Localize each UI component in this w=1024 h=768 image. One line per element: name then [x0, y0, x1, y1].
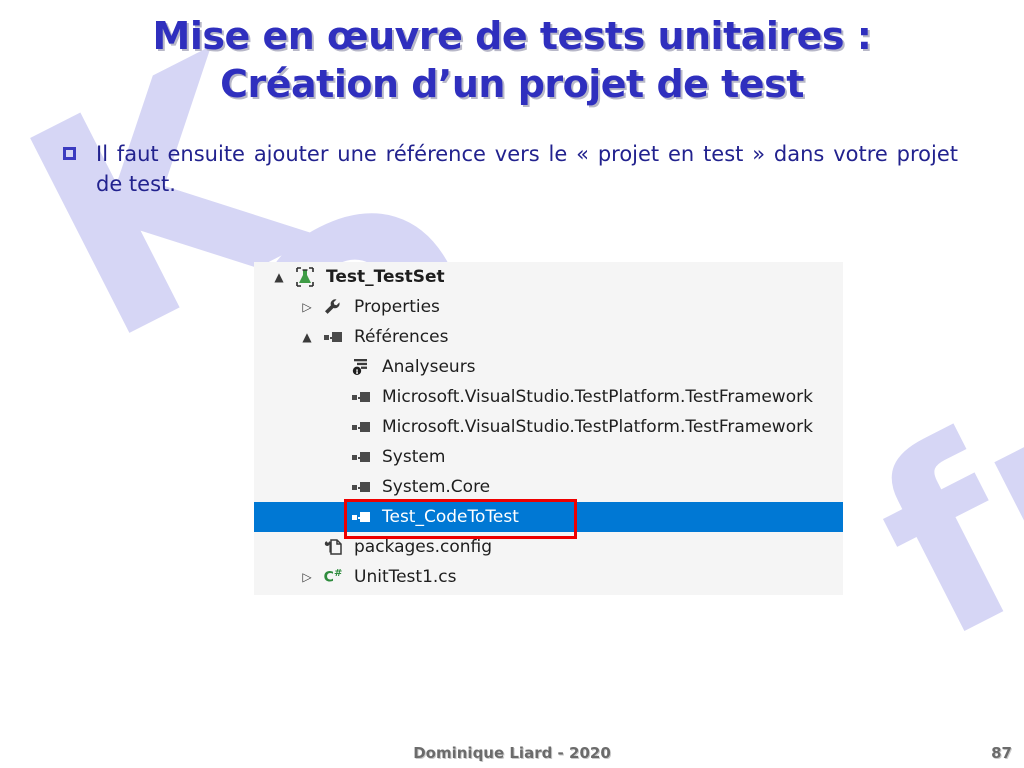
tree-row-icon-slot: [290, 267, 320, 287]
reference-icon: [352, 511, 370, 523]
reference-icon: [324, 331, 342, 343]
solution-explorer-panel[interactable]: ▲Test_TestSet▷Properties▲RéférencesAnaly…: [254, 262, 843, 595]
tree-row-label: UnitTest1.cs: [348, 567, 457, 587]
expand-arrow-icon[interactable]: ▷: [296, 301, 318, 313]
tree-row-icon-slot: [318, 298, 348, 316]
tree-row-label: Analyseurs: [376, 357, 476, 377]
tree-row[interactable]: System.Core: [254, 472, 843, 502]
analyzers-icon: [351, 358, 371, 376]
tree-row-icon-slot: [346, 358, 376, 376]
tree-row[interactable]: System: [254, 442, 843, 472]
page-title-line-1: Mise en œuvre de tests unitaires :: [62, 12, 962, 60]
reference-icon: [352, 481, 370, 493]
wrench-icon: [323, 298, 343, 316]
tree-row[interactable]: ▲Test_TestSet: [254, 262, 843, 292]
reference-icon: [352, 421, 370, 433]
tree-row[interactable]: Test_CodeToTest: [254, 502, 843, 532]
square-bullet-icon: [63, 147, 76, 160]
tree-row[interactable]: Microsoft.VisualStudio.TestPlatform.Test…: [254, 412, 843, 442]
tree-row-label: packages.config: [348, 537, 492, 557]
tree-row-icon-slot: [346, 391, 376, 403]
csharp-file-icon: C#: [324, 569, 343, 585]
tree-row[interactable]: ▷C#UnitTest1.cs: [254, 562, 843, 592]
tree-row-label: System: [376, 447, 445, 467]
tree-row-label: Références: [348, 327, 448, 347]
bullet-paragraph-text: Il faut ensuite ajouter une référence ve…: [96, 139, 958, 199]
tree-row-label: System.Core: [376, 477, 490, 497]
config-file-icon: [323, 538, 343, 556]
tree-row-icon-slot: [346, 451, 376, 463]
tree-row-icon-slot: [346, 511, 376, 523]
tree-row[interactable]: packages.config: [254, 532, 843, 562]
footer-author: Dominique Liard - 2020: [0, 744, 1024, 762]
page-title-line-2: Création d’un projet de test: [62, 60, 962, 108]
slide-footer: Dominique Liard - 2020 87: [0, 744, 1024, 768]
tree-row-icon-slot: [318, 331, 348, 343]
tree-row-label: Properties: [348, 297, 440, 317]
tree-row-label: Microsoft.VisualStudio.TestPlatform.Test…: [376, 417, 813, 437]
tree-row[interactable]: ▲Références: [254, 322, 843, 352]
page-title: Mise en œuvre de tests unitaires : Créat…: [62, 12, 962, 108]
expand-arrow-icon[interactable]: ▷: [296, 571, 318, 583]
tree-row-icon-slot: C#: [318, 569, 348, 585]
tree-row-label: Test_CodeToTest: [376, 507, 519, 527]
tree-row[interactable]: Microsoft.VisualStudio.TestPlatform.Test…: [254, 382, 843, 412]
reference-icon: [352, 451, 370, 463]
tree-row-label: Microsoft.VisualStudio.TestPlatform.Test…: [376, 387, 813, 407]
bullet-paragraph: Il faut ensuite ajouter une référence ve…: [63, 139, 958, 199]
footer-page-number: 87: [991, 744, 1012, 762]
test-project-flask-icon: [294, 267, 316, 287]
reference-icon: [352, 391, 370, 403]
tree-row[interactable]: Analyseurs: [254, 352, 843, 382]
collapse-arrow-icon[interactable]: ▲: [268, 271, 290, 283]
slide-canvas: Mise en œuvre de tests unitaires : Créat…: [0, 0, 1024, 768]
tree-row-icon-slot: [346, 421, 376, 433]
collapse-arrow-icon[interactable]: ▲: [296, 331, 318, 343]
tree-row[interactable]: ▷Properties: [254, 292, 843, 322]
tree-row-icon-slot: [318, 538, 348, 556]
tree-row-icon-slot: [346, 481, 376, 493]
tree-row-label: Test_TestSet: [320, 267, 445, 287]
